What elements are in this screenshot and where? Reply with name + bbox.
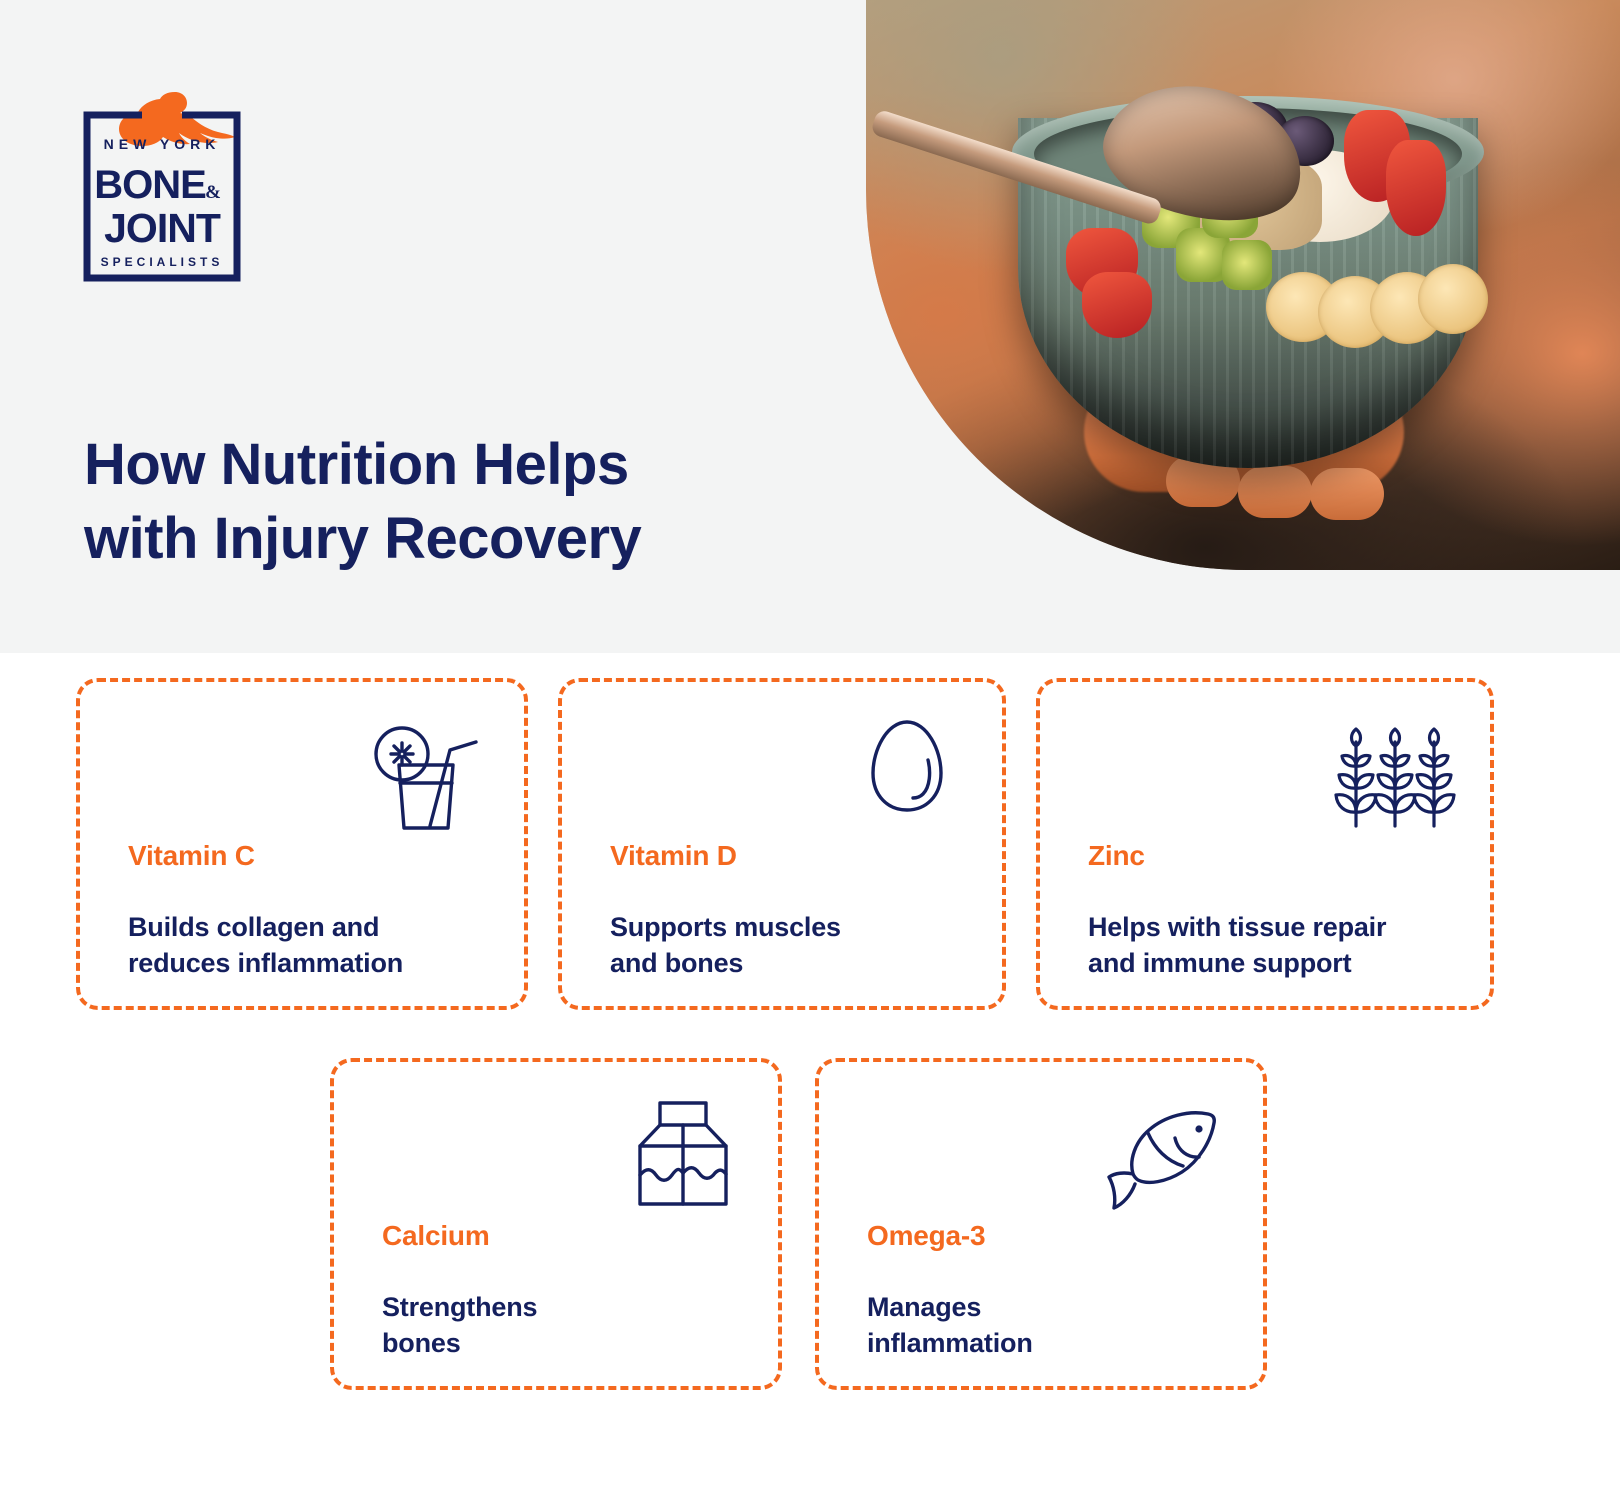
nutrient-label: Zinc [1088,840,1145,872]
wheat-icon [1330,708,1460,838]
fish-icon [1103,1088,1233,1218]
milk-carton-icon [618,1088,748,1218]
nutrient-description: Builds collagen and reduces inflammation [128,910,403,982]
nutrient-label: Omega-3 [867,1220,985,1252]
nutrient-card-vitamin-d[interactable]: Vitamin D Supports muscles and bones [558,678,1006,1010]
brand-logo[interactable]: NEW YORK BONE & JOINT SPECIALISTS [80,86,244,282]
nutrient-description-line-2: and immune support [1088,948,1351,978]
nutrient-label: Vitamin D [610,840,737,872]
kiwi-4 [1222,240,1272,290]
page-title: How Nutrition Helps with Injury Recovery [84,428,804,575]
infographic-page: NEW YORK BONE & JOINT SPECIALISTS How Nu… [0,0,1620,1500]
nutrient-description: Helps with tissue repair and immune supp… [1088,910,1386,982]
nutrient-description-line-2: inflammation [867,1328,1033,1358]
nutrient-label: Calcium [382,1220,490,1252]
hand-finger-3 [1310,468,1384,520]
logo-joint: JOINT [104,205,221,251]
strawberry-2 [1386,140,1446,236]
nutrient-description: Supports muscles and bones [610,910,841,982]
hero-image [866,0,1620,570]
header-section: NEW YORK BONE & JOINT SPECIALISTS How Nu… [0,0,1620,653]
egg-icon [842,708,972,838]
logo-specialists: SPECIALISTS [101,255,224,269]
nutrient-card-calcium[interactable]: Calcium Strengthens bones [330,1058,782,1390]
nutrient-description: Strengthens bones [382,1290,537,1362]
nutrient-description-line-2: and bones [610,948,743,978]
nutrient-description: Manages inflammation [867,1290,1033,1362]
nutrient-card-zinc[interactable]: Zinc Helps with tissue repair and immune… [1036,678,1494,1010]
logo-bone: BONE [94,163,206,207]
nutrient-label: Vitamin C [128,840,255,872]
banana-4 [1418,264,1488,334]
juice-glass-icon [364,708,494,838]
nutrient-description-line-2: bones [382,1328,461,1358]
strawberry-4 [1082,272,1152,338]
logo-ampersand: & [205,182,221,203]
nutrient-description-line-1: Supports muscles [610,912,841,942]
nutrient-description-line-1: Builds collagen and [128,912,379,942]
hand-finger-2 [1238,466,1312,518]
nutrient-card-grid: Vitamin C Builds collagen and reduces in… [0,653,1620,1500]
logo-newyork: NEW YORK [104,136,221,152]
nutrient-description-line-1: Strengthens [382,1292,537,1322]
nutrient-description-line-2: reduces inflammation [128,948,403,978]
nutrient-card-vitamin-c[interactable]: Vitamin C Builds collagen and reduces in… [76,678,528,1010]
nutrient-description-line-1: Manages [867,1292,981,1322]
nutrient-description-line-1: Helps with tissue repair [1088,912,1386,942]
page-title-line-1: How Nutrition Helps [84,432,629,497]
nutrient-card-omega-3[interactable]: Omega-3 Manages inflammation [815,1058,1267,1390]
page-title-line-2: with Injury Recovery [84,506,641,571]
